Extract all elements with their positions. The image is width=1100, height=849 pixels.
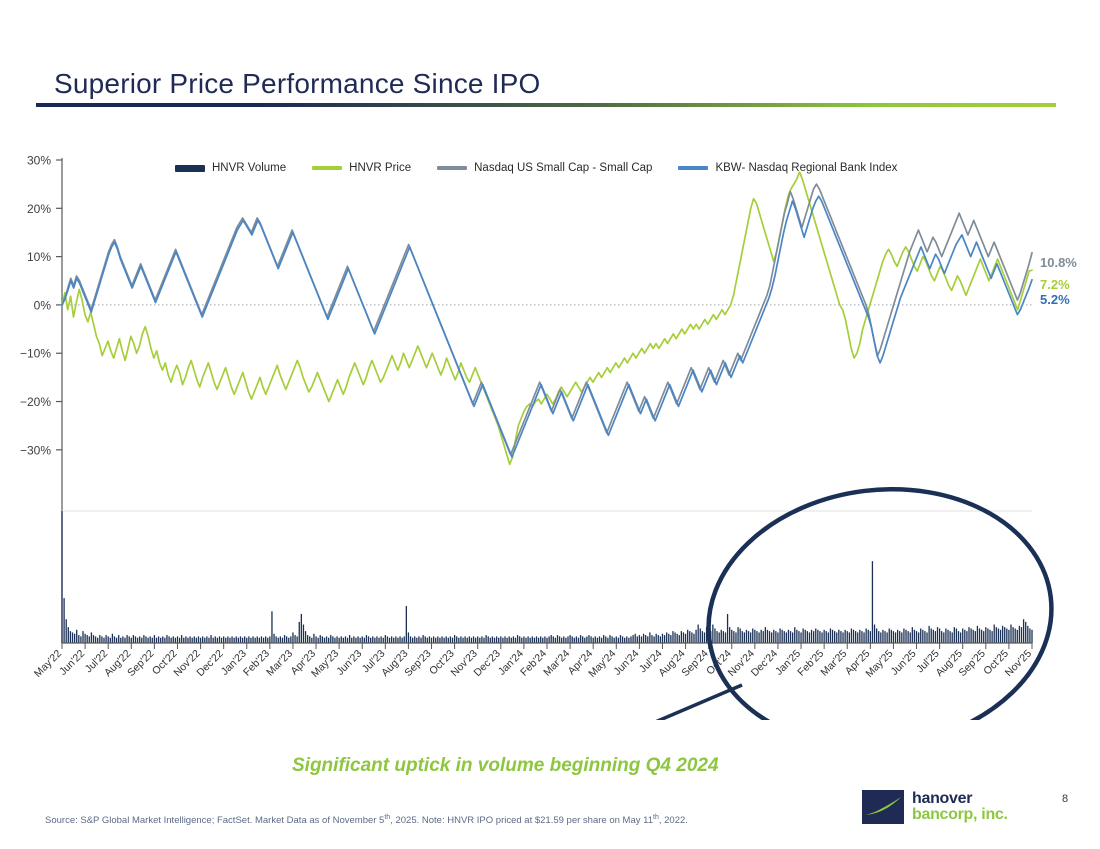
x-tick-label: May'22 bbox=[32, 648, 64, 680]
logo-wordmark: hanover bancorp, inc. bbox=[912, 791, 1008, 823]
price-performance-chart: 30%20%10%0%−10%−20%−30% May'22Jun'22Jul'… bbox=[0, 140, 1100, 720]
legend-label-nasdaq-small-cap: Nasdaq US Small Cap - Small Cap bbox=[474, 162, 652, 174]
legend-swatch-icon-nasdaq-small-cap bbox=[437, 166, 467, 170]
x-tick-label: Dec'24 bbox=[749, 648, 780, 679]
volume-callout-note: Significant uptick in volume beginning Q… bbox=[292, 755, 719, 777]
x-tick-label: Mar'23 bbox=[264, 648, 295, 679]
x-tick-label: Jun'22 bbox=[57, 648, 87, 678]
series-end-label-kbw: 5.2% bbox=[1040, 292, 1070, 307]
x-tick-label: Dec'23 bbox=[472, 648, 503, 679]
footnote-part-c: , 2022. bbox=[659, 815, 688, 826]
hanover-swoosh-mark-icon bbox=[862, 790, 904, 824]
volume-bars bbox=[62, 511, 1032, 643]
legend-item-nasdaq-small-cap[interactable]: Nasdaq US Small Cap - Small Cap bbox=[437, 162, 652, 174]
chart-legend: HNVR Volume HNVR Price Nasdaq US Small C… bbox=[175, 162, 897, 174]
x-tick-label: Sep'25 bbox=[957, 648, 988, 679]
series-line bbox=[62, 172, 1032, 464]
x-tick-label: Sep'23 bbox=[402, 648, 433, 679]
y-tick-label: −30% bbox=[20, 443, 51, 457]
x-tick-label: Mar'25 bbox=[818, 648, 849, 679]
x-tick-label: Jun'25 bbox=[889, 648, 919, 678]
chart-canvas: 30%20%10%0%−10%−20%−30% May'22Jun'22Jul'… bbox=[0, 140, 1100, 720]
logo-line-hanover: hanover bbox=[912, 791, 1008, 807]
series-end-label-hnvr: 7.2% bbox=[1040, 277, 1070, 292]
footnote-part-b: , 2025. Note: HNVR IPO priced at $21.59 … bbox=[390, 815, 653, 826]
series-line bbox=[62, 184, 1032, 455]
x-axis: May'22Jun'22Jul'22Aug'22Sep'22Oct'22Nov'… bbox=[32, 643, 1034, 680]
callout-ellipse bbox=[694, 470, 1067, 720]
x-tick-label: Jun'23 bbox=[334, 648, 364, 678]
legend-label-kbw-regional-bank: KBW- Nasdaq Regional Bank Index bbox=[715, 162, 897, 174]
footnote-source: Source: S&P Global Market Intelligence; … bbox=[45, 814, 688, 826]
y-tick-label: −10% bbox=[20, 347, 51, 361]
legend-swatch-icon-hnvr-volume bbox=[175, 165, 205, 172]
footnote-part-a: Source: S&P Global Market Intelligence; … bbox=[45, 815, 384, 826]
y-axis: 30%20%10%0%−10%−20%−30% bbox=[20, 154, 62, 644]
title-underline-rule bbox=[36, 103, 1056, 107]
y-tick-label: 30% bbox=[27, 154, 51, 168]
legend-item-kbw-regional-bank[interactable]: KBW- Nasdaq Regional Bank Index bbox=[678, 162, 897, 174]
callout-arrow-shaft bbox=[585, 685, 742, 720]
legend-swatch-icon-kbw-regional-bank bbox=[678, 166, 708, 170]
hanover-bancorp-logo: hanover bancorp, inc. bbox=[862, 790, 1008, 824]
legend-swatch-icon-hnvr-price bbox=[312, 166, 342, 170]
series-end-label-nasdaq: 10.8% bbox=[1040, 255, 1077, 270]
y-tick-label: 20% bbox=[27, 202, 51, 216]
legend-label-hnvr-volume: HNVR Volume bbox=[212, 162, 286, 174]
y-tick-label: −20% bbox=[20, 395, 51, 409]
y-tick-label: 0% bbox=[34, 298, 52, 312]
callout-ellipse-and-arrow bbox=[578, 470, 1066, 720]
legend-item-hnvr-volume[interactable]: HNVR Volume bbox=[175, 162, 286, 174]
x-tick-label: Sep'24 bbox=[679, 648, 710, 679]
legend-label-hnvr-price: HNVR Price bbox=[349, 162, 411, 174]
y-tick-label: 10% bbox=[27, 250, 51, 264]
x-tick-label: Sep'22 bbox=[125, 648, 156, 679]
x-tick-label: Mar'24 bbox=[541, 648, 572, 679]
page-title: Superior Price Performance Since IPO bbox=[54, 68, 541, 100]
legend-item-hnvr-price[interactable]: HNVR Price bbox=[312, 162, 411, 174]
series-lines bbox=[62, 172, 1032, 464]
page-number: 8 bbox=[1062, 793, 1068, 805]
x-tick-label: Dec'22 bbox=[194, 648, 225, 679]
x-tick-label: Jun'24 bbox=[611, 648, 641, 678]
logo-line-bancorp: bancorp, inc. bbox=[912, 807, 1008, 823]
